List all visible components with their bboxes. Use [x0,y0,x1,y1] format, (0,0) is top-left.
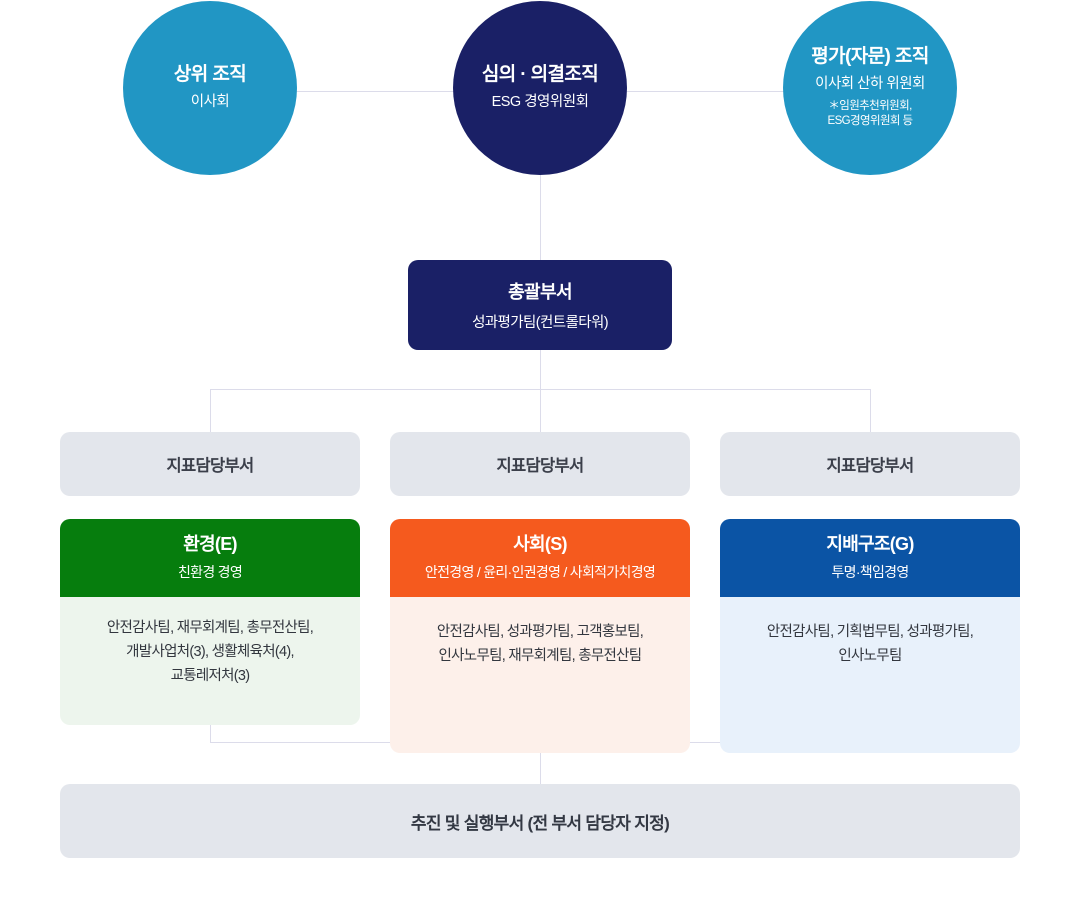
card-governance-header: 지배구조(G) 투명·책임경영 [720,519,1020,597]
governance-team-line-2: 인사노무팀 [838,648,901,664]
upper-organization-subtitle: 이사회 [191,93,230,112]
card-environment-subtitle: 친환경 경영 [68,563,352,581]
card-environment-header: 환경(E) 친환경 경영 [60,519,360,597]
connector-upper-to-center [290,91,460,92]
node-execution-departments[interactable]: 추진 및 실행부서 (전 부서 담당자 지정) [60,784,1020,858]
environment-team-line-2: 개발사업처(3), 생활체육처(4), [126,644,294,660]
indicator-department-tag-governance: 지표담당부서 [720,432,1020,496]
bracket-top-drop-right [870,389,871,433]
column-social: 지표담당부서 사회(S) 안전경영 / 윤리·인권경영 / 사회적가치경영 안전… [390,432,690,753]
card-social-header: 사회(S) 안전경영 / 윤리·인권경영 / 사회적가치경영 [390,519,690,597]
deliberation-organization-subtitle: ESG 경영위원회 [492,93,589,112]
card-governance[interactable]: 지배구조(G) 투명·책임경영 안전감사팀, 기획법무팀, 성과평가팀, 인사노… [720,519,1020,753]
card-environment[interactable]: 환경(E) 친환경 경영 안전감사팀, 재무회계팀, 총무전산팀, 개발사업처(… [60,519,360,725]
indicator-department-tag-social: 지표담당부서 [390,432,690,496]
node-upper-organization[interactable]: 상위 조직 이사회 [123,1,297,175]
control-department-subtitle: 성과평가팀(컨트롤타워) [472,311,608,332]
evaluation-organization-note: ＊임원추천위원회, ESG경영위원회 등 [828,99,913,130]
bracket-top-drop-center [540,389,541,433]
social-team-line-2: 인사노무팀, 재무회계팀, 총무전산팀 [439,648,642,664]
deliberation-organization-title: 심의 · 의결조직 [482,64,598,87]
connector-control-down [540,350,541,389]
node-deliberation-organization[interactable]: 심의 · 의결조직 ESG 경영위원회 [453,1,627,175]
evaluation-organization-title: 평가(자문) 조직 [811,46,928,69]
bracket-top-drop-left [210,389,211,433]
node-control-department[interactable]: 총괄부서 성과평가팀(컨트롤타워) [408,260,672,350]
org-chart-diagram: 상위 조직 이사회 심의 · 의결조직 ESG 경영위원회 평가(자문) 조직 … [0,0,1080,900]
column-environment: 지표담당부서 환경(E) 친환경 경영 안전감사팀, 재무회계팀, 총무전산팀,… [60,432,360,725]
card-environment-title: 환경(E) [68,534,352,556]
card-social-subtitle: 안전경영 / 윤리·인권경영 / 사회적가치경영 [398,563,682,581]
card-social-title: 사회(S) [398,534,682,556]
card-governance-body: 안전감사팀, 기획법무팀, 성과평가팀, 인사노무팀 [720,597,1020,753]
execution-departments-label: 추진 및 실행부서 (전 부서 담당자 지정) [411,809,669,834]
environment-team-line-1: 안전감사팀, 재무회계팀, 총무전산팀, [107,620,313,636]
evaluation-note-line-2: ESG경영위원회 등 [828,115,913,127]
card-social[interactable]: 사회(S) 안전경영 / 윤리·인권경영 / 사회적가치경영 안전감사팀, 성과… [390,519,690,753]
evaluation-organization-subtitle: 이사회 산하 위원회 [815,75,925,94]
node-evaluation-organization[interactable]: 평가(자문) 조직 이사회 산하 위원회 ＊임원추천위원회, ESG경영위원회 … [783,1,957,175]
connector-center-to-eval [620,91,790,92]
environment-team-line-3: 교통레저처(3) [171,668,250,684]
card-governance-title: 지배구조(G) [728,534,1012,556]
card-governance-subtitle: 투명·책임경영 [728,563,1012,581]
evaluation-note-line-1: ＊임원추천위원회, [828,100,911,112]
control-department-title: 총괄부서 [508,278,572,304]
card-environment-body: 안전감사팀, 재무회계팀, 총무전산팀, 개발사업처(3), 생활체육처(4),… [60,597,360,725]
column-governance: 지표담당부서 지배구조(G) 투명·책임경영 안전감사팀, 기획법무팀, 성과평… [720,432,1020,753]
governance-team-line-1: 안전감사팀, 기획법무팀, 성과평가팀, [767,624,973,640]
indicator-department-tag-environment: 지표담당부서 [60,432,360,496]
social-team-line-1: 안전감사팀, 성과평가팀, 고객홍보팀, [437,624,643,640]
upper-organization-title: 상위 조직 [174,64,246,87]
connector-center-vertical-top [540,168,541,262]
card-social-body: 안전감사팀, 성과평가팀, 고객홍보팀, 인사노무팀, 재무회계팀, 총무전산팀 [390,597,690,753]
